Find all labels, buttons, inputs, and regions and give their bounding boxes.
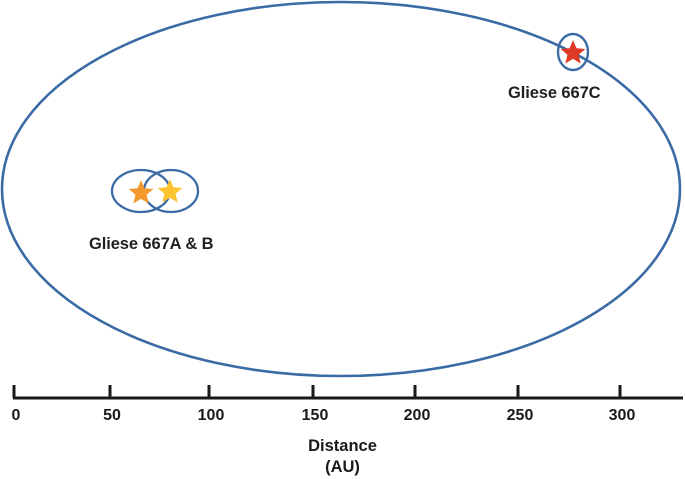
axis-tick-label-200: 200 bbox=[404, 407, 431, 425]
gliese-667c-label: Gliese 667C bbox=[508, 84, 600, 103]
axis-tick-label-100: 100 bbox=[198, 407, 225, 425]
gliese-667-system-diagram: Gliese 667C Gliese 667A & B 0 50 100 150… bbox=[0, 0, 685, 479]
axis-title-unit: (AU) bbox=[0, 457, 685, 478]
gliese-667a-star-icon bbox=[129, 180, 154, 204]
axis-tick-label-300: 300 bbox=[609, 407, 636, 425]
axis-tick-label-250: 250 bbox=[507, 407, 534, 425]
axis-tick-label-0: 0 bbox=[12, 407, 21, 425]
axis-title-main: Distance bbox=[0, 436, 685, 457]
gliese-667b-star-icon bbox=[158, 179, 183, 203]
axis-tick-label-150: 150 bbox=[302, 407, 329, 425]
distance-axis-ticks bbox=[14, 385, 620, 398]
axis-tick-label-50: 50 bbox=[103, 407, 121, 425]
distance-axis-title: Distance (AU) bbox=[0, 436, 685, 478]
gliese-667ab-label: Gliese 667A & B bbox=[89, 235, 213, 254]
